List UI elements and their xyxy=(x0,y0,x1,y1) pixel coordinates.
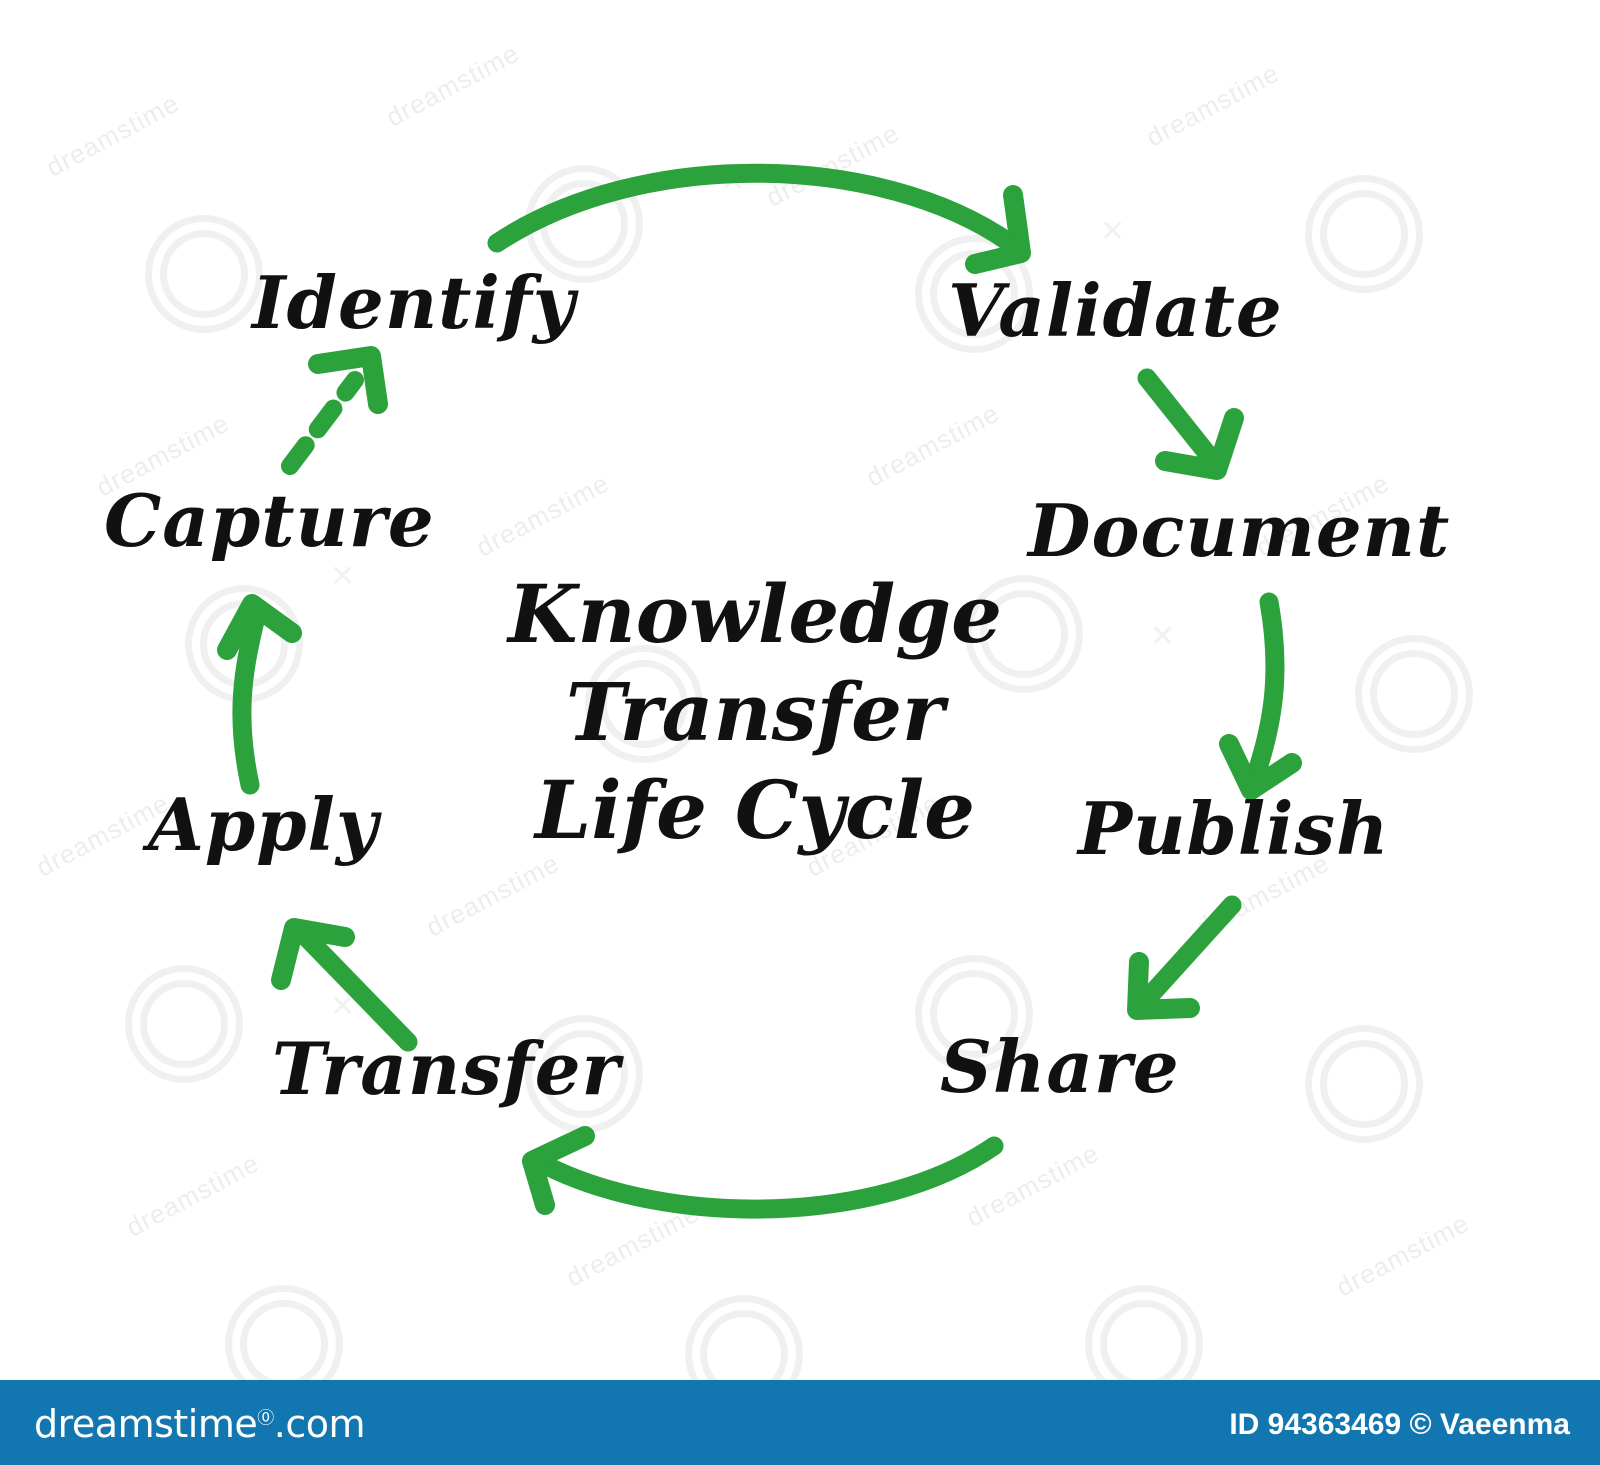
node-publish[interactable]: Publish xyxy=(1078,786,1389,871)
center-title-line-1: Knowledge xyxy=(455,565,1055,663)
node-document[interactable]: Document xyxy=(1028,488,1450,573)
diagram-canvas: dreamstime dreamstime dreamstime dreamst… xyxy=(0,0,1600,1465)
node-transfer[interactable]: Transfer xyxy=(272,1026,621,1111)
node-share[interactable]: Share xyxy=(940,1024,1180,1109)
brand-name: dreamstime xyxy=(34,1402,257,1446)
node-apply[interactable]: Apply xyxy=(148,782,379,867)
node-capture[interactable]: Capture xyxy=(104,478,435,563)
center-title: Knowledge Transfer Life Cycle xyxy=(455,565,1055,859)
footer-bar: dreamstime⓪.com ID 94363469 © Vaeenma xyxy=(0,1380,1600,1465)
center-title-line-3: Life Cycle xyxy=(455,761,1055,859)
node-validate[interactable]: Validate xyxy=(948,268,1283,353)
registered-icon: ⓪ xyxy=(257,1408,274,1428)
image-credit: ID 94363469 © Vaeenma xyxy=(1229,1408,1570,1442)
node-identify[interactable]: Identify xyxy=(252,260,576,345)
brand-suffix: .com xyxy=(274,1402,365,1446)
dreamstime-logo[interactable]: dreamstime⓪.com xyxy=(34,1402,365,1446)
center-title-line-2: Transfer xyxy=(455,663,1055,761)
